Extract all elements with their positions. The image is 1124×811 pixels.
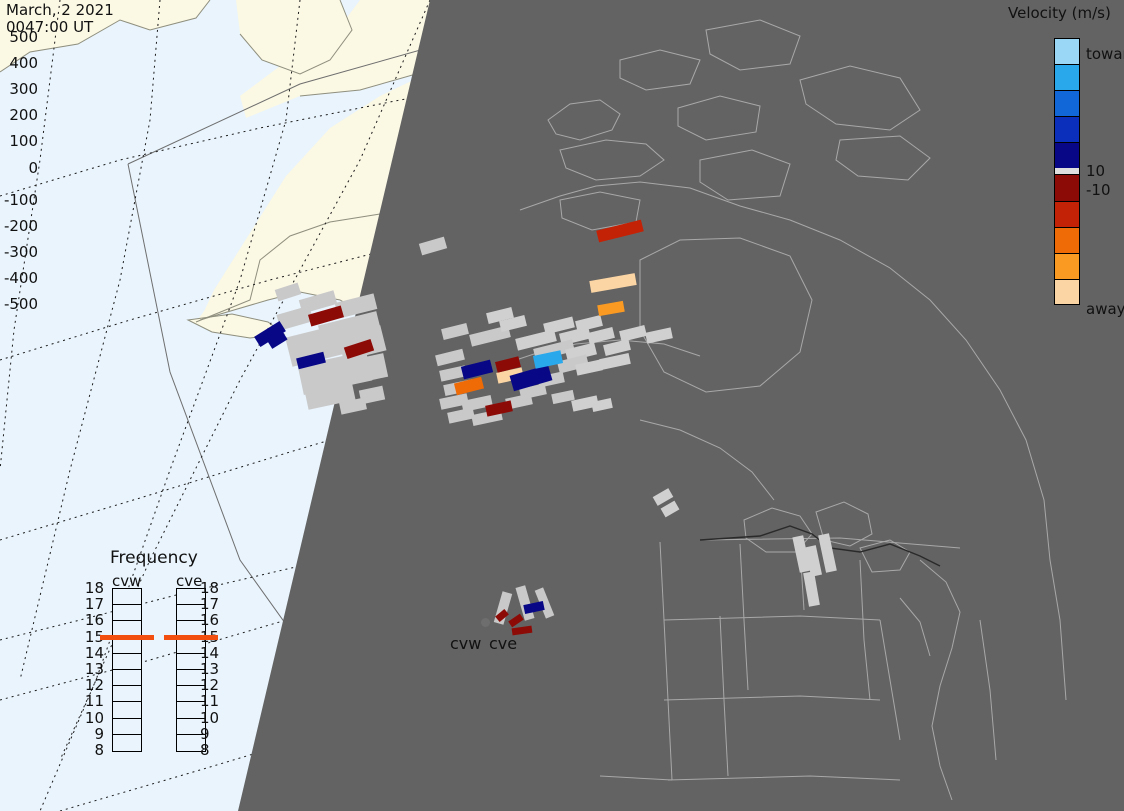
colorbar-tick-label: 500 bbox=[9, 30, 38, 45]
frequency-tick-label: 10 bbox=[200, 711, 219, 726]
frequency-tick-label: 8 bbox=[80, 743, 104, 758]
radar-site-marker-cvw[interactable] bbox=[481, 618, 490, 627]
frequency-bar-row bbox=[113, 719, 141, 735]
frequency-tick-label: 17 bbox=[200, 597, 219, 612]
frequency-legend-title: Frequency bbox=[110, 548, 198, 568]
colorbar-segment[interactable] bbox=[1054, 227, 1080, 253]
frequency-tick-label: 12 bbox=[80, 678, 104, 693]
colorbar-tick-label: -200 bbox=[4, 219, 38, 234]
frequency-tick-label: 18 bbox=[80, 581, 104, 596]
frequency-bar-row bbox=[113, 589, 141, 605]
colorbar-segment[interactable] bbox=[1054, 116, 1080, 142]
map-canvas[interactable]: cvw cve bbox=[0, 0, 1124, 811]
colorbar-tick-label: 400 bbox=[9, 56, 38, 71]
frequency-tick-label: 17 bbox=[80, 597, 104, 612]
colorbar-tick-label: 100 bbox=[9, 134, 38, 149]
frequency-tick-label: 14 bbox=[200, 646, 219, 661]
colorbar-tick-label: -100 bbox=[4, 193, 38, 208]
frequency-tick-label: 9 bbox=[80, 727, 104, 742]
colorbar-zero-upper-label: 10 bbox=[1086, 164, 1105, 179]
frequency-tick-label: 10 bbox=[80, 711, 104, 726]
frequency-bar-row bbox=[113, 702, 141, 718]
frequency-tick-label: 13 bbox=[80, 662, 104, 677]
frequency-bar-row bbox=[113, 670, 141, 686]
frequency-bar-row bbox=[113, 735, 141, 751]
frequency-tick-label: 16 bbox=[80, 613, 104, 628]
colorbar-tick-label: 0 bbox=[28, 161, 38, 176]
radar-site-label-cvw: cvw bbox=[450, 634, 481, 653]
frequency-tick-label: 11 bbox=[80, 694, 104, 709]
colorbar-segment[interactable] bbox=[1054, 64, 1080, 90]
colorbar-tick-label: -400 bbox=[4, 271, 38, 286]
frequency-tick-label: 12 bbox=[200, 678, 219, 693]
frequency-bar-row bbox=[113, 686, 141, 702]
colorbar-tick-label: 200 bbox=[9, 108, 38, 123]
frequency-tick-label: 14 bbox=[80, 646, 104, 661]
colorbar-tick-label: -500 bbox=[4, 297, 38, 312]
colorbar-segment[interactable] bbox=[1054, 174, 1080, 200]
colorbar-zero-lower-label: -10 bbox=[1086, 183, 1111, 198]
superdarn-velocity-map: cvw cve March, 2 2021 0047:00 UT Velocit… bbox=[0, 0, 1124, 811]
colorbar-segment[interactable] bbox=[1054, 201, 1080, 227]
colorbar-segment[interactable] bbox=[1054, 142, 1080, 168]
frequency-tick-label: 13 bbox=[200, 662, 219, 677]
frequency-tick-label: 11 bbox=[200, 694, 219, 709]
colorbar-segment[interactable] bbox=[1054, 38, 1080, 64]
frequency-bar-row bbox=[113, 638, 141, 654]
frequency-tick-label: 16 bbox=[200, 613, 219, 628]
colorbar-segment[interactable] bbox=[1054, 90, 1080, 116]
colorbar-segment[interactable] bbox=[1054, 279, 1080, 305]
colorbar-title: Velocity (m/s) bbox=[1008, 4, 1111, 22]
radar-site-label-cve: cve bbox=[489, 634, 517, 653]
frequency-bar-row bbox=[113, 605, 141, 621]
colorbar-tick-label: 300 bbox=[9, 82, 38, 97]
velocity-colorbar[interactable] bbox=[1054, 38, 1080, 305]
frequency-marker-cve bbox=[164, 635, 218, 640]
colorbar-tick-label: -300 bbox=[4, 245, 38, 260]
frequency-bar-row bbox=[113, 654, 141, 670]
frequency-tick-label: 18 bbox=[200, 581, 219, 596]
frequency-bar-cvw[interactable] bbox=[112, 588, 142, 752]
colorbar-toward-label: toward bbox=[1086, 47, 1124, 62]
colorbar-away-label: away bbox=[1086, 302, 1124, 317]
frequency-tick-label: 9 bbox=[200, 727, 210, 742]
frequency-tick-label: 8 bbox=[200, 743, 210, 758]
colorbar-segment[interactable] bbox=[1054, 253, 1080, 279]
frequency-marker-cvw bbox=[100, 635, 154, 640]
